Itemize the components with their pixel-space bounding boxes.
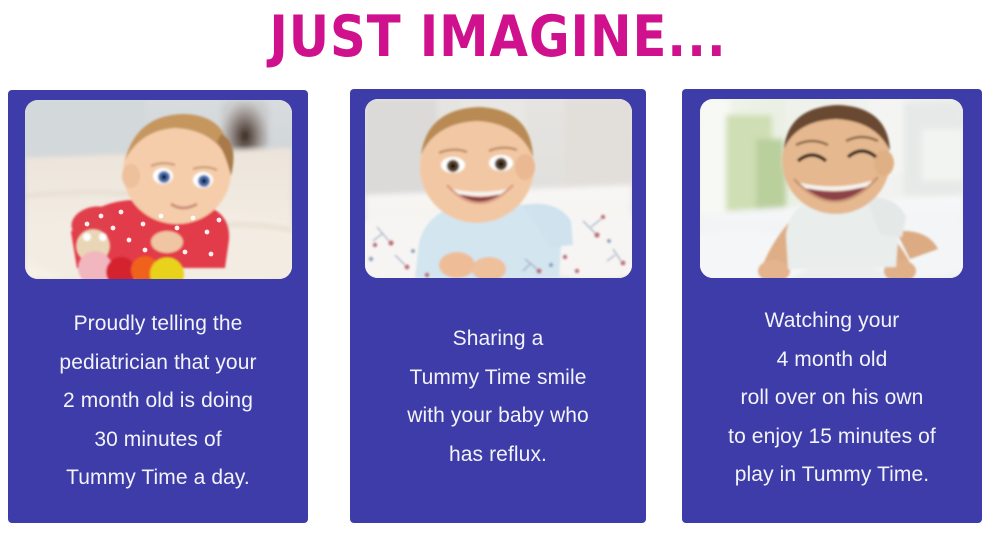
imagine-card-1: Proudly telling the pediatrician that yo… xyxy=(8,90,308,523)
caption-line: 4 month old xyxy=(690,341,974,380)
caption-line: has reflux. xyxy=(358,436,638,475)
caption-line: play in Tummy Time. xyxy=(690,456,974,495)
caption-line: pediatrician that your xyxy=(16,344,300,383)
photo-illustration-1 xyxy=(25,100,292,279)
baby-blue-onesie-smiling-photo xyxy=(365,99,632,278)
baby-red-polka-dot-tummy-time-photo xyxy=(25,100,292,279)
caption-line: Tummy Time smile xyxy=(358,359,638,398)
card-2-caption: Sharing a Tummy Time smile with your bab… xyxy=(350,320,646,474)
caption-line: 30 minutes of xyxy=(16,421,300,460)
caption-line: to enjoy 15 minutes of xyxy=(690,418,974,457)
caption-line: roll over on his own xyxy=(690,379,974,418)
photo-illustration-2 xyxy=(365,99,632,278)
caption-line: Sharing a xyxy=(358,320,638,359)
caption-line: with your baby who xyxy=(358,397,638,436)
caption-line: Watching your xyxy=(690,302,974,341)
card-1-caption: Proudly telling the pediatrician that yo… xyxy=(8,305,308,498)
caption-line: Tummy Time a day. xyxy=(16,459,300,498)
imagine-card-2: Sharing a Tummy Time smile with your bab… xyxy=(350,89,646,523)
imagine-card-row: Proudly telling the pediatrician that yo… xyxy=(0,0,996,533)
card-3-caption: Watching your 4 month old roll over on h… xyxy=(682,302,982,495)
caption-line: 2 month old is doing xyxy=(16,382,300,421)
caption-line: Proudly telling the xyxy=(16,305,300,344)
imagine-card-3: Watching your 4 month old roll over on h… xyxy=(682,89,982,523)
photo-illustration-3 xyxy=(700,99,963,278)
baby-white-onesie-rolling-photo xyxy=(700,99,963,278)
